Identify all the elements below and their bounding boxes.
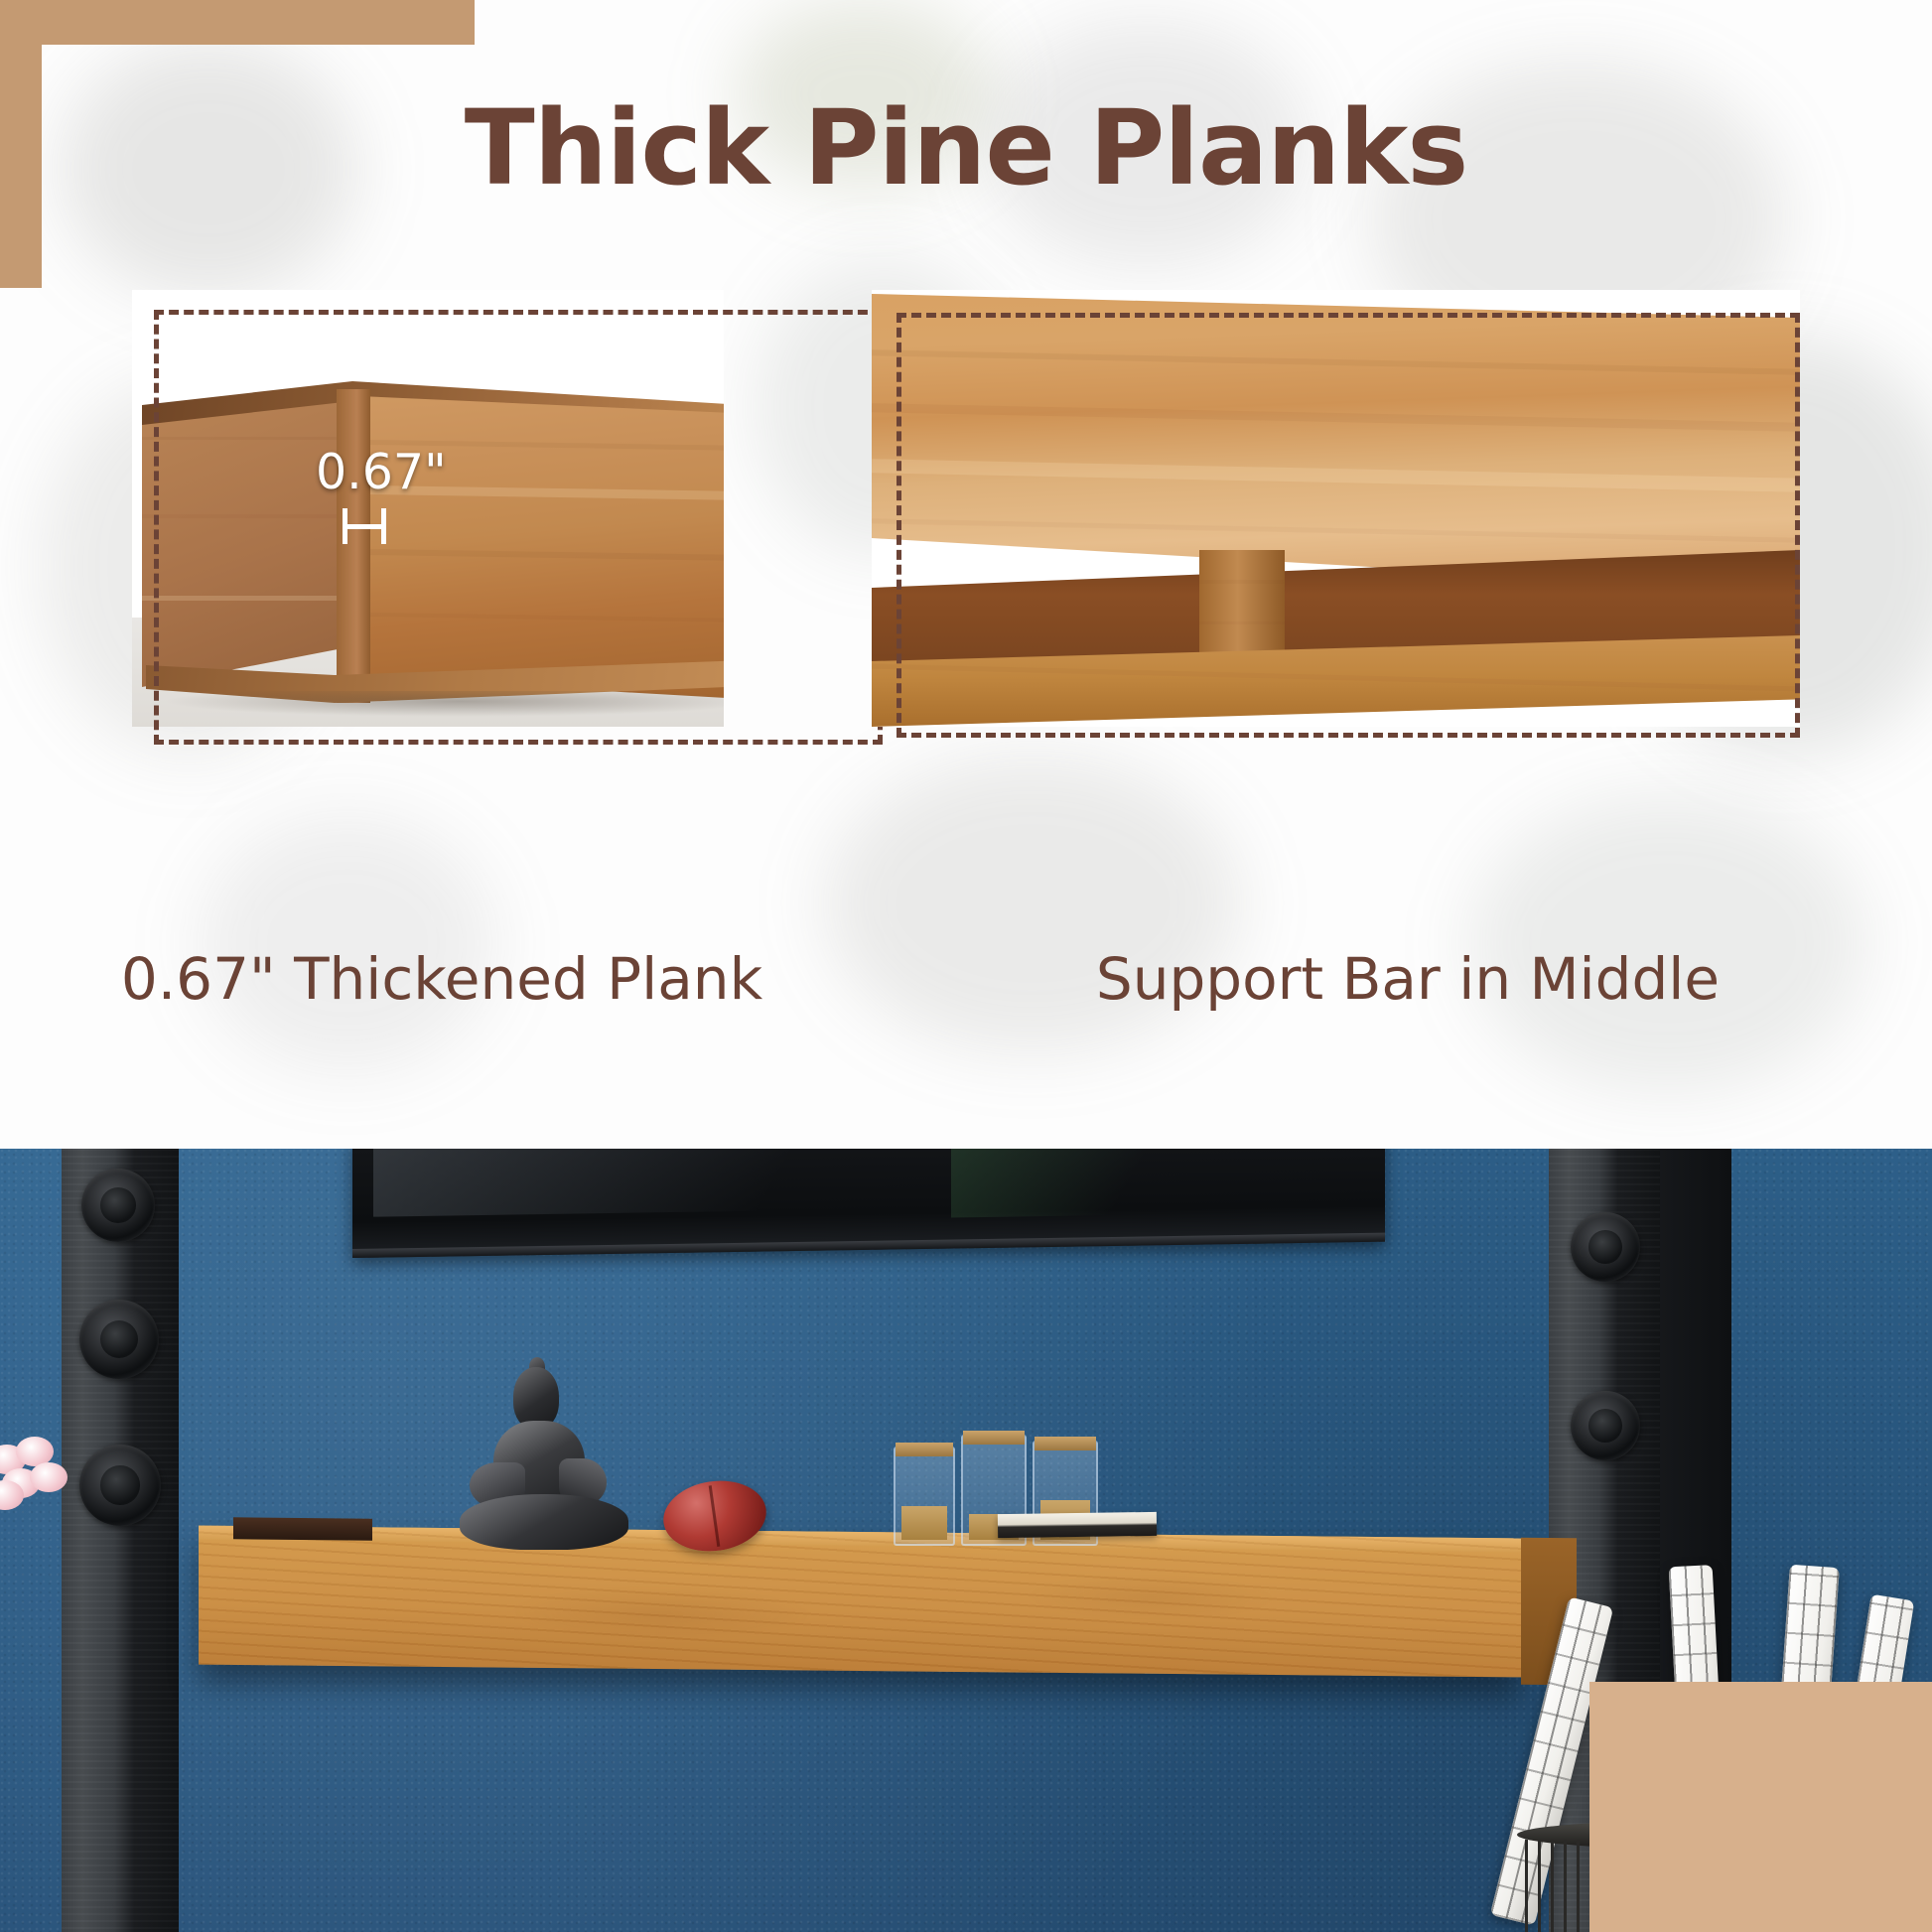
plank-left-face xyxy=(142,397,352,687)
buddha-statue xyxy=(452,1367,635,1546)
feature-image-support-bar xyxy=(872,290,1800,727)
shelf-top-board xyxy=(872,294,1800,592)
dimension-arrow-icon xyxy=(343,508,386,544)
lifestyle-photo xyxy=(0,1149,1932,1932)
white-book xyxy=(998,1512,1157,1538)
plank-thickness-band xyxy=(337,389,370,703)
wall-shadow-blob xyxy=(199,814,496,1072)
feature-caption-support-bar: Support Bar in Middle xyxy=(884,945,1932,1013)
glass-jar xyxy=(894,1447,955,1546)
speaker-driver-icon xyxy=(81,1169,155,1242)
page-title: Thick Pine Planks xyxy=(0,87,1932,208)
feature-caption-thickened-plank: 0.67" Thickened Plank xyxy=(0,945,884,1013)
bracket-horizontal-bar xyxy=(0,0,475,45)
cherry-blossom-branch xyxy=(0,1437,81,1528)
speaker-driver-icon xyxy=(1571,1212,1640,1282)
speaker-driver-icon xyxy=(79,1445,161,1526)
speaker-driver-icon xyxy=(1571,1391,1640,1460)
dark-book xyxy=(233,1517,372,1540)
floating-wood-shelf xyxy=(199,1526,1521,1678)
tower-speaker-left xyxy=(62,1149,179,1932)
feature-section: Thick Pine Planks 0.67" xyxy=(0,0,1932,1149)
feature-image-thickened-plank xyxy=(132,290,724,727)
wall-shadow-blob xyxy=(1469,794,1866,1092)
corner-block-decoration xyxy=(1589,1682,1932,1932)
wall-mounted-tv xyxy=(352,1149,1385,1258)
speaker-driver-icon xyxy=(79,1300,159,1379)
dimension-label: 0.67" xyxy=(316,444,447,500)
plank-front-face xyxy=(337,385,724,701)
